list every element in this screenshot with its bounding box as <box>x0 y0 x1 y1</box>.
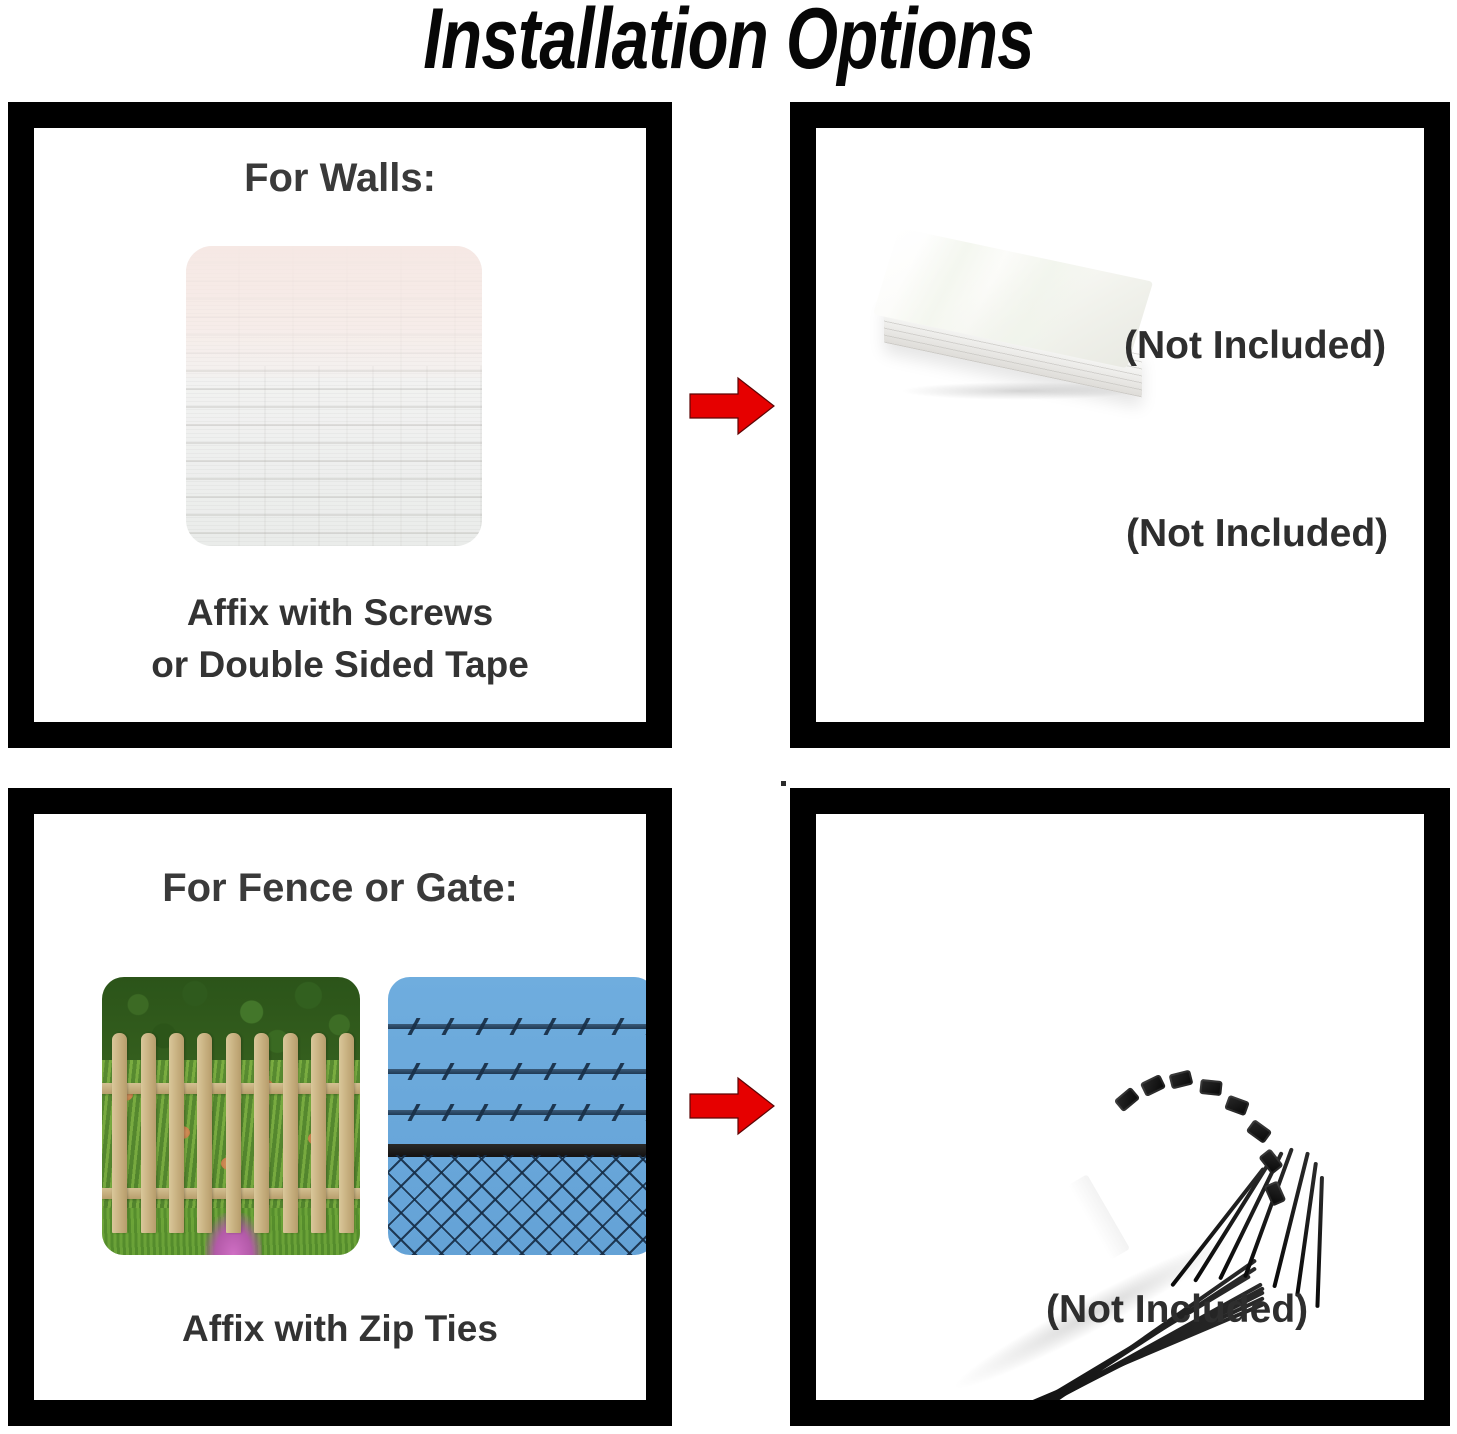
zip-tie-head <box>1169 1070 1194 1090</box>
zip-ties-not-included-note: (Not Included) <box>1046 1288 1308 1332</box>
fence-picket <box>112 1033 127 1233</box>
page-title: Installation Options <box>160 0 1296 84</box>
zip-tie-head <box>1264 1180 1287 1206</box>
image-artifact-speck <box>781 781 786 786</box>
for-fence-caption: Affix with Zip Ties <box>34 1303 646 1356</box>
chain-link-barbed-wire-fence-photo <box>388 977 646 1255</box>
chain-link-mesh <box>388 1155 646 1255</box>
zip-tie-head <box>1224 1095 1250 1117</box>
for-walls-heading: For Walls: <box>34 156 646 201</box>
zip-ties-binding-band <box>1068 1174 1130 1259</box>
zip-tie-tail <box>1315 1176 1324 1308</box>
fence-picket <box>283 1033 298 1233</box>
fence-picket <box>226 1033 241 1233</box>
fence-picket <box>169 1033 184 1233</box>
screws-not-included-note: (Not Included) <box>1126 512 1388 556</box>
fence-picket <box>339 1033 354 1233</box>
zip-tie-tail <box>1272 1152 1310 1289</box>
for-fence-or-gate-heading: For Fence or Gate: <box>34 866 646 911</box>
tape-not-included-note: (Not Included) <box>1124 324 1386 368</box>
double-sided-tape-stack-image <box>876 246 1158 406</box>
zip-tie-head <box>1246 1119 1273 1144</box>
red-right-arrow-icon-walls <box>688 376 776 436</box>
walls-caption-line-1: Affix with Screws <box>34 587 646 640</box>
fence-picket <box>254 1033 269 1233</box>
wall-top-wash <box>186 246 482 378</box>
panel-wall-hardware-inner <box>816 128 1424 722</box>
barbed-wire-strand <box>388 1069 646 1074</box>
zip-tie-head <box>1140 1074 1166 1097</box>
red-right-arrow-icon-fence <box>688 1076 776 1136</box>
panel-for-walls: For Walls: Affix with Screws or Double S… <box>8 102 672 748</box>
wooden-picket-fence-photo <box>102 977 360 1255</box>
fence-caption-line-1: Affix with Zip Ties <box>34 1303 646 1356</box>
zip-tie-head <box>1199 1079 1222 1096</box>
panel-for-walls-inner: For Walls: Affix with Screws or Double S… <box>34 128 646 722</box>
white-brick-wall-swatch-image <box>186 246 482 546</box>
panel-for-fence-or-gate: For Fence or Gate: <box>8 788 672 1426</box>
barbed-wire-strand <box>388 1110 646 1115</box>
panel-for-fence-inner: For Fence or Gate: <box>34 814 646 1400</box>
for-walls-caption: Affix with Screws or Double Sided Tape <box>34 587 646 692</box>
fence-picket <box>141 1033 156 1233</box>
barbed-wire-strand <box>388 1024 646 1029</box>
panel-wall-hardware <box>790 102 1450 748</box>
walls-caption-line-2: or Double Sided Tape <box>34 639 646 692</box>
fence-picket <box>311 1033 326 1233</box>
zip-tie-tail <box>1193 1157 1274 1283</box>
black-zip-ties-bundle-image <box>904 1046 1334 1400</box>
zip-tie-head <box>1114 1087 1140 1113</box>
fence-picket <box>197 1033 212 1233</box>
